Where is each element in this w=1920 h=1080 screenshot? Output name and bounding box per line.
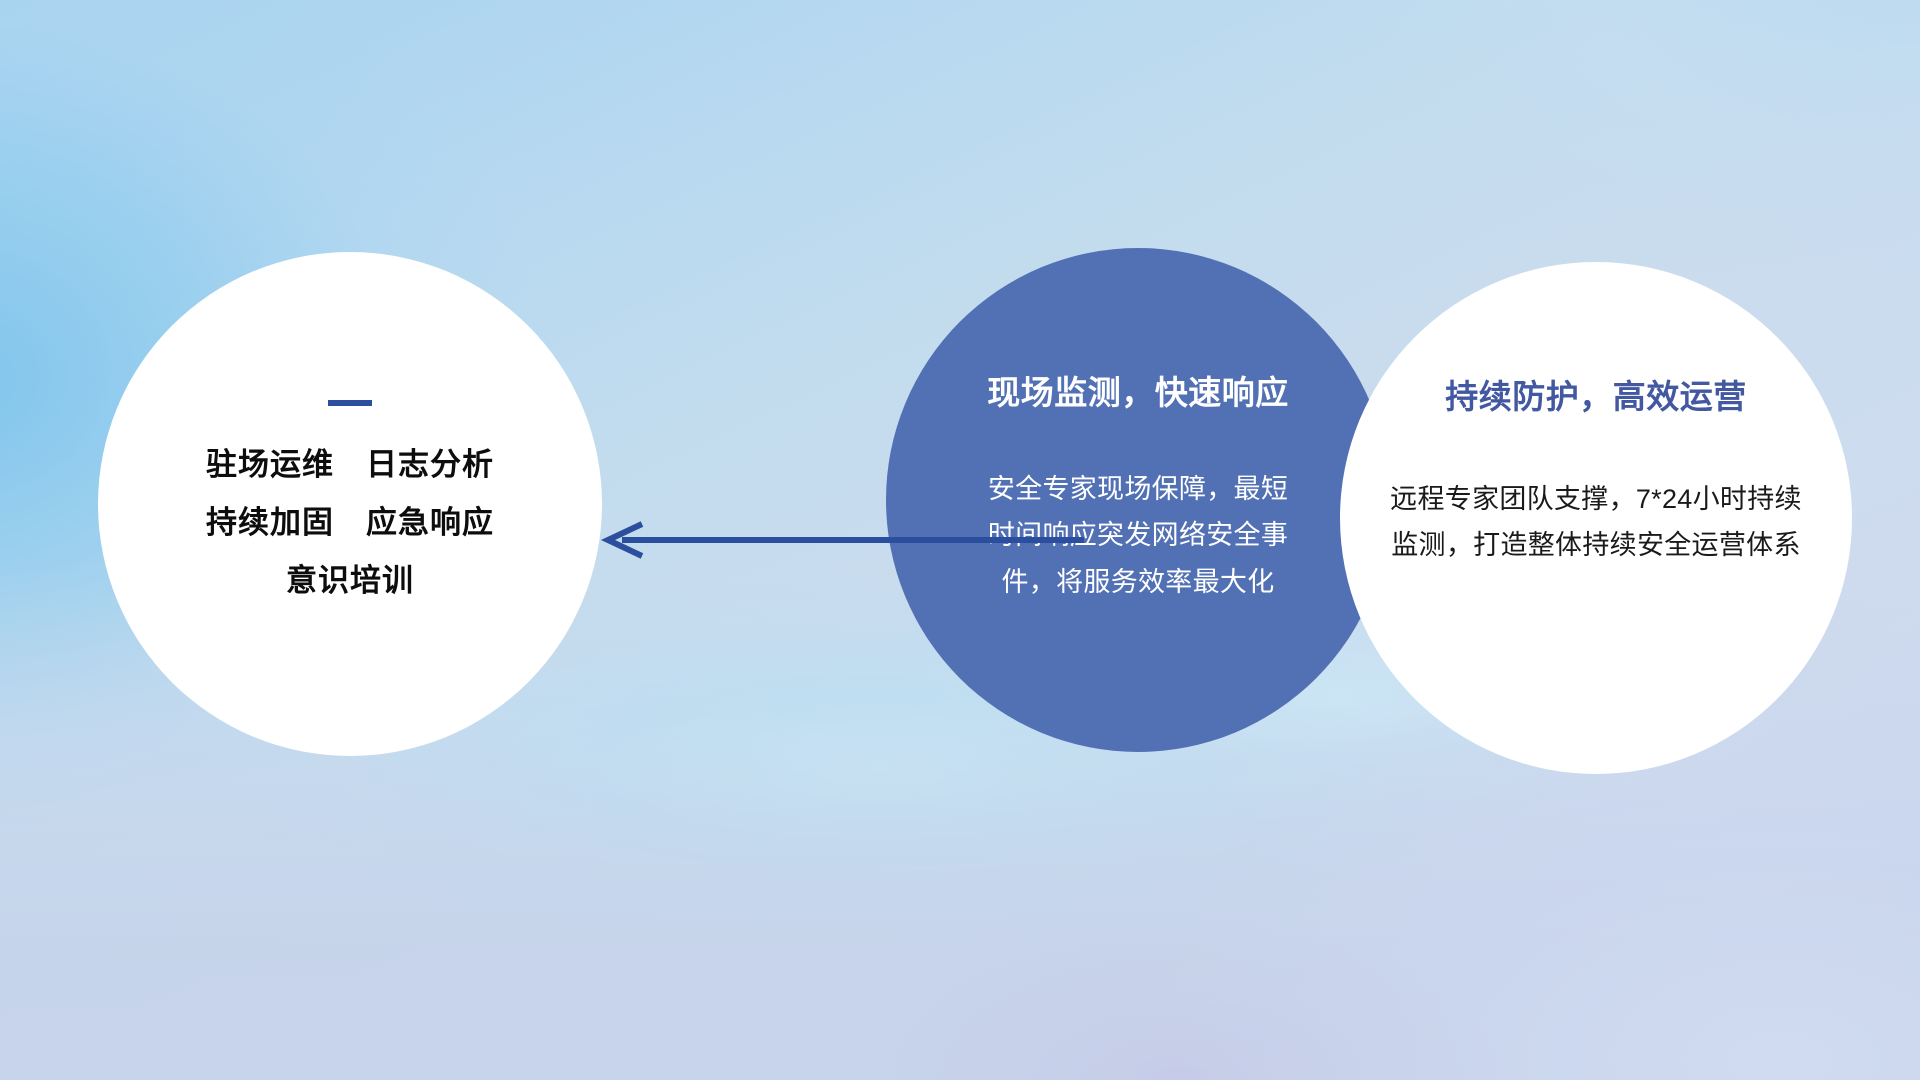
right-circle-content: 持续防护，高效运营 远程专家团队支撑，7*24小时持续监测，打造整体持续安全运营…	[1340, 262, 1852, 774]
left-capability-circle[interactable]: 驻场运维 日志分析 持续加固 应急响应 意识培训	[98, 252, 602, 756]
left-circle-content: 驻场运维 日志分析 持续加固 应急响应 意识培训	[98, 252, 602, 756]
right-operations-circle[interactable]: 持续防护，高效运营 远程专家团队支撑，7*24小时持续监测，打造整体持续安全运营…	[1340, 262, 1852, 774]
center-circle-title: 现场监测，快速响应	[987, 366, 1289, 414]
left-keyword-list: 驻场运维 日志分析 持续加固 应急响应 意识培训	[206, 448, 494, 598]
left-keyword-line: 持续加固 应急响应	[206, 506, 494, 540]
left-keyword-line: 驻场运维 日志分析	[206, 448, 494, 482]
left-keyword-line: 意识培训	[286, 564, 414, 598]
right-circle-body: 远程专家团队支撑，7*24小时持续监测，打造整体持续安全运营体系	[1386, 476, 1806, 569]
divider-dash-icon	[328, 400, 372, 406]
connector-arrow-left-icon	[596, 500, 1086, 580]
slide-canvas: 驻场运维 日志分析 持续加固 应急响应 意识培训 现场监测，快速响应 安全专家现…	[0, 0, 1920, 1080]
right-circle-title: 持续防护，高效运营	[1445, 370, 1747, 418]
